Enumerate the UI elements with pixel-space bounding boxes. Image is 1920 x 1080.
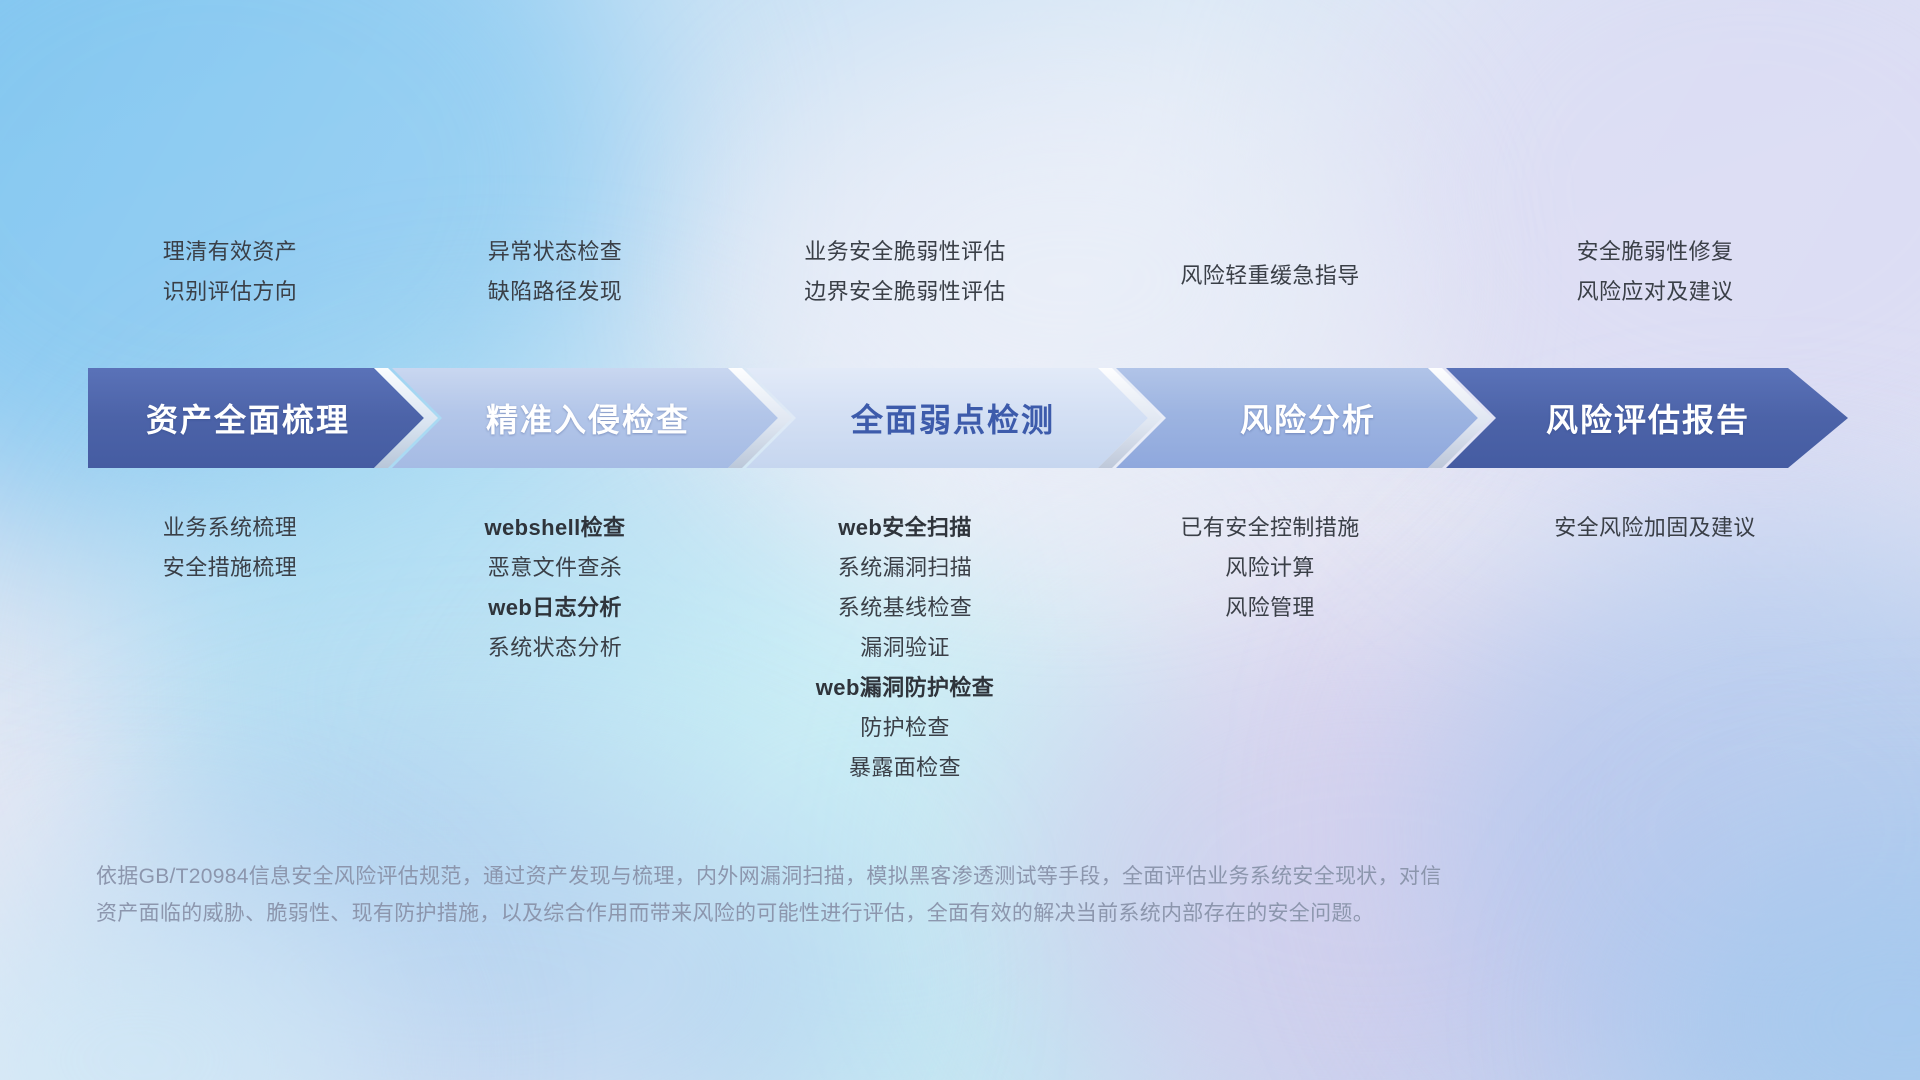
stage-tasks-risk-analysis: 已有安全控制措施 风险计算 风险管理 <box>1080 508 1460 628</box>
stage-tasks-intrusion-check: webshell检查 恶意文件查杀 web日志分析 系统状态分析 <box>380 508 730 668</box>
task-item: 恶意文件查杀 <box>488 548 622 588</box>
stage-outcomes-asset-inventory: 理清有效资产 识别评估方向 <box>80 232 380 312</box>
stage-outcomes-row: 理清有效资产 识别评估方向 异常状态检查 缺陷路径发现 业务安全脆弱性评估 边界… <box>80 232 1850 312</box>
stage-tasks-assessment-report: 安全风险加固及建议 <box>1460 508 1850 548</box>
footer-line-2: 资产面临的威胁、脆弱性、现有防护措施，以及综合作用而带来风险的可能性进行评估，全… <box>96 895 1616 932</box>
task-item: webshell检查 <box>485 508 626 548</box>
outcome-text: 异常状态检查 <box>488 232 622 272</box>
chevron-shape-intrusion-check <box>392 368 778 468</box>
stage-tasks-row: 业务系统梳理 安全措施梳理 webshell检查 恶意文件查杀 web日志分析 … <box>80 508 1850 788</box>
stage-tasks-asset-inventory: 业务系统梳理 安全措施梳理 <box>80 508 380 588</box>
task-item: 防护检查 <box>860 708 950 748</box>
outcome-text: 业务安全脆弱性评估 <box>804 232 1006 272</box>
chevron-shape-weakness-detection <box>746 368 1148 468</box>
footer-line-1: 依据GB/T20984信息安全风险评估规范，通过资产发现与梳理，内外网漏洞扫描，… <box>96 858 1616 895</box>
slide-canvas: 理清有效资产 识别评估方向 异常状态检查 缺陷路径发现 业务安全脆弱性评估 边界… <box>0 0 1920 1080</box>
outcome-text: 识别评估方向 <box>163 272 297 312</box>
chevron-shape-assessment-report <box>1446 368 1848 468</box>
stage-outcomes-weakness-detection: 业务安全脆弱性评估 边界安全脆弱性评估 <box>730 232 1080 312</box>
outcome-text: 缺陷路径发现 <box>488 272 622 312</box>
stage-outcomes-intrusion-check: 异常状态检查 缺陷路径发现 <box>380 232 730 312</box>
task-item: 系统漏洞扫描 <box>838 548 972 588</box>
task-item: 安全措施梳理 <box>163 548 297 588</box>
task-item: 暴露面检查 <box>849 748 961 788</box>
task-item: 业务系统梳理 <box>163 508 297 548</box>
task-item: web漏洞防护检查 <box>816 668 994 708</box>
chevron-shape-asset-inventory <box>88 368 424 468</box>
outcome-text: 风险应对及建议 <box>1577 272 1734 312</box>
outcome-text: 边界安全脆弱性评估 <box>804 272 1006 312</box>
process-chevron-band: 资产全面梳理 精准入侵检查 全面弱点检测 风险分析 风险评估报告 <box>88 368 1848 468</box>
task-item: 系统状态分析 <box>488 628 622 668</box>
task-item: 安全风险加固及建议 <box>1554 508 1756 548</box>
task-item: web安全扫描 <box>838 508 972 548</box>
task-item: 漏洞验证 <box>860 628 950 668</box>
footer-description: 依据GB/T20984信息安全风险评估规范，通过资产发现与梳理，内外网漏洞扫描，… <box>96 858 1616 932</box>
task-item: 风险计算 <box>1225 548 1315 588</box>
outcome-text: 风险轻重缓急指导 <box>1180 256 1359 296</box>
task-item: 风险管理 <box>1225 588 1315 628</box>
outcome-text: 安全脆弱性修复 <box>1577 232 1734 272</box>
task-item: 系统基线检查 <box>838 588 972 628</box>
stage-outcomes-risk-analysis: 风险轻重缓急指导 <box>1080 232 1460 296</box>
outcome-text: 理清有效资产 <box>163 232 297 272</box>
stage-outcomes-assessment-report: 安全脆弱性修复 风险应对及建议 <box>1460 232 1850 312</box>
stage-tasks-weakness-detection: web安全扫描 系统漏洞扫描 系统基线检查 漏洞验证 web漏洞防护检查 防护检… <box>730 508 1080 788</box>
chevron-shape-risk-analysis <box>1116 368 1478 468</box>
task-item: web日志分析 <box>488 588 622 628</box>
task-item: 已有安全控制措施 <box>1180 508 1359 548</box>
